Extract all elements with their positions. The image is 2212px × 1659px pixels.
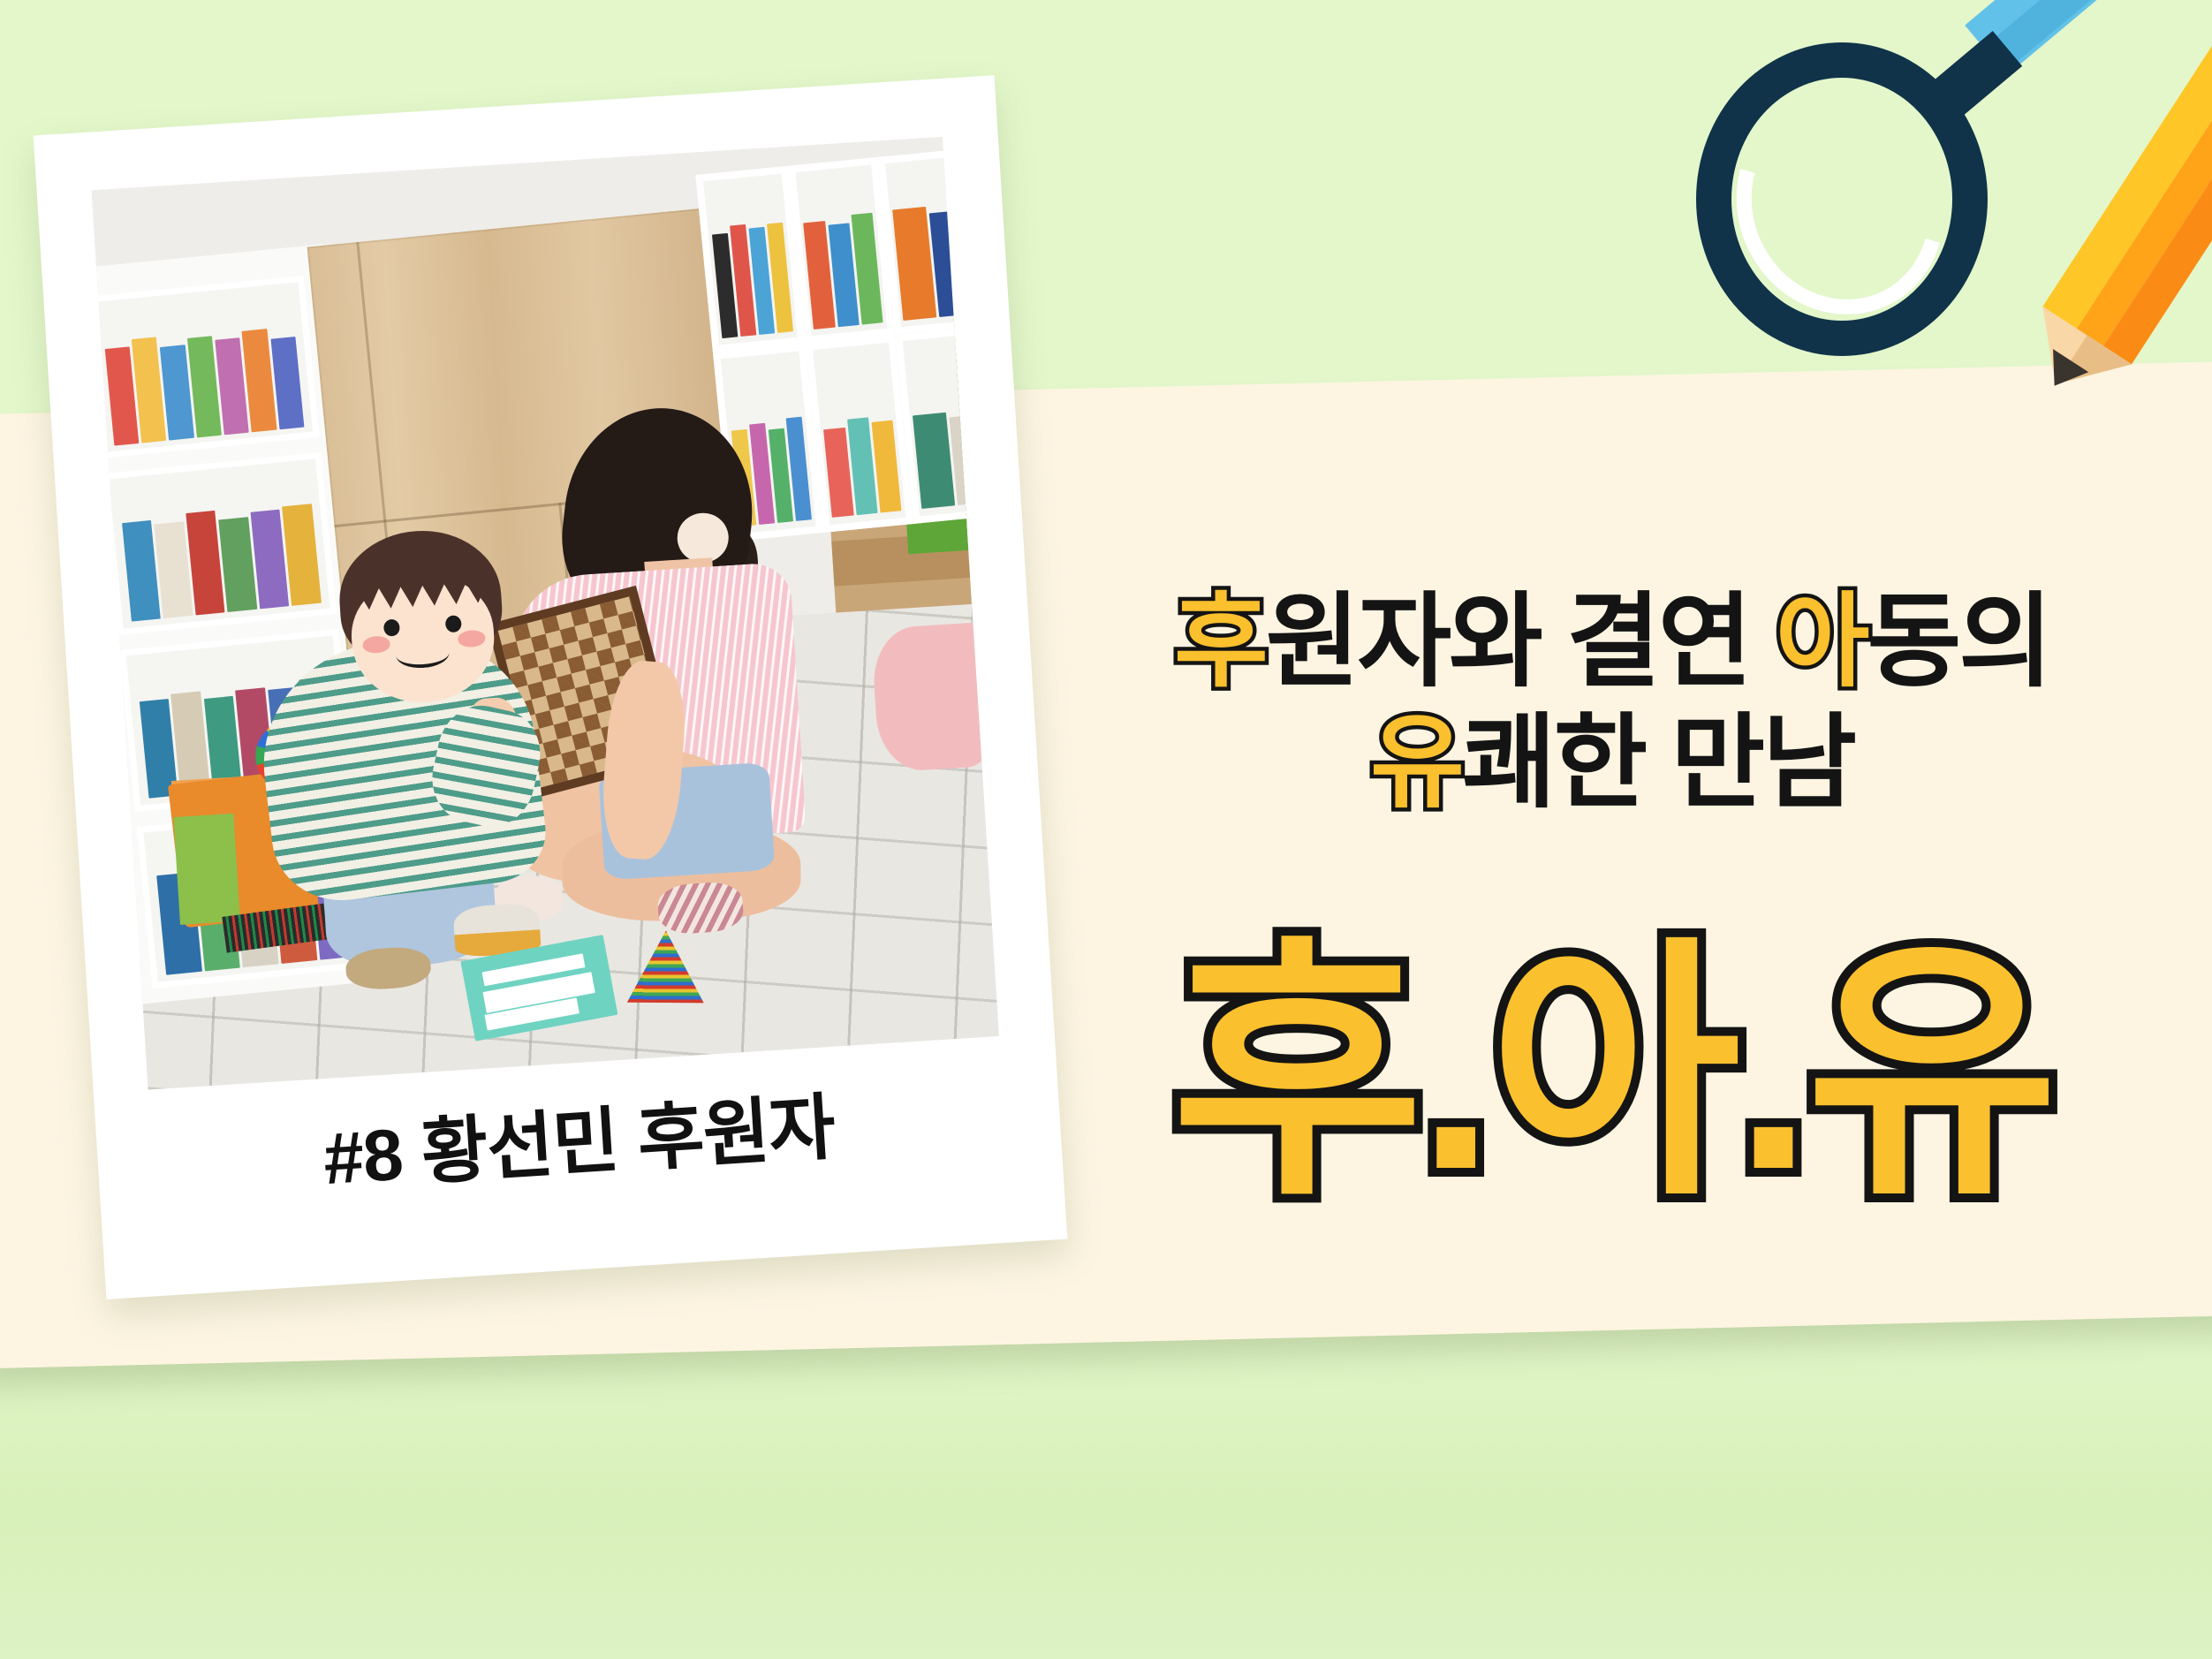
shelf-box [92,276,320,458]
headline-line-1-tail: 동의 [1867,584,2050,699]
decoration-tools [1661,0,2212,380]
headline-line-1-rest: 원자와 결연 [1266,584,1776,699]
headline-line-2-rest: 쾌한 만남 [1462,705,1854,820]
polaroid-photo-card: #8 황선민 후원자 [34,75,1068,1299]
book-row [120,496,321,622]
headline-highlight-a: 아 [1776,584,1867,699]
cubby [877,148,984,335]
pencil-icon [2014,0,2212,409]
toy-bin-side [174,814,240,925]
scene-pink-cushion [871,622,990,773]
headline-line-2: 유쾌한 만남 [1060,702,2164,823]
photo-image [92,137,999,1090]
headline-highlight-hu: 후 [1174,584,1266,699]
headline: 후원자와 결연 아동의 유쾌한 만남 [1060,581,2164,823]
shelf-box [102,452,337,635]
headline-line-1: 후원자와 결연 아동의 [1060,581,2164,702]
big-title: 후.아.유 [1060,936,2164,1210]
cubby [695,166,805,352]
cubby [788,157,895,344]
promo-card: #8 황선민 후원자 후원자와 결연 아동의 유쾌한 만남 후.아.유 [0,0,2212,1659]
headline-highlight-yu: 유 [1370,705,1462,820]
book-row [103,319,304,445]
cubby [895,326,999,524]
photo-scene [92,137,999,1090]
